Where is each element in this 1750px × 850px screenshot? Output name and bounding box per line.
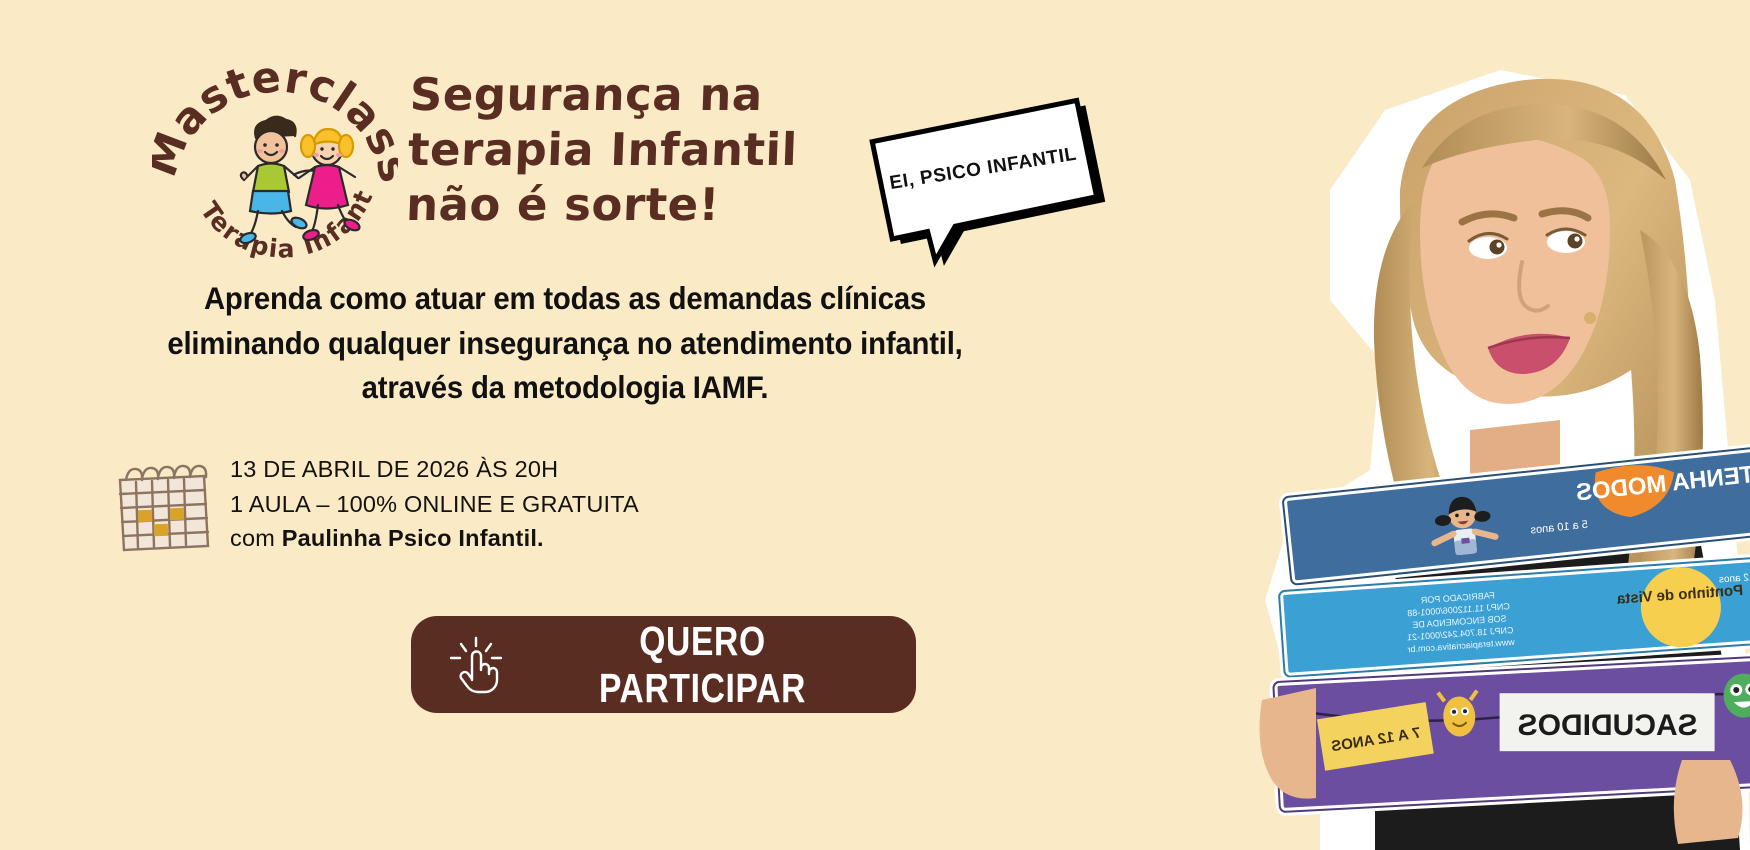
promo-banner: Masterclass Terapia Infantil (0, 0, 1750, 850)
subheadline: Aprenda como atuar em todas as demandas … (95, 276, 1034, 410)
presenter-photo: TENHA MODOS 5 a 10 anos (1170, 0, 1750, 850)
masterclass-logo: Masterclass Terapia Infantil (152, 42, 398, 274)
headline-line-1: Segurança na (409, 68, 931, 123)
hand-right (1674, 760, 1743, 844)
click-hand-icon (445, 634, 507, 696)
cta-label: QUERO PARTICIPAR (542, 618, 863, 712)
event-info-block: 13 DE ABRIL DE 2026 ÀS 20H 1 AULA – 100%… (108, 452, 639, 556)
event-date: 13 DE ABRIL DE 2026 ÀS 20H (230, 452, 639, 487)
earring (1584, 312, 1596, 324)
box3-title: SACUDIDOS (1518, 709, 1698, 742)
calendar-icon (108, 454, 216, 554)
event-host: com Paulinha Psico Infantil. (230, 521, 639, 556)
boy-illustration (239, 117, 308, 245)
subheadline-line-3: através da metodologia IAMF. (95, 365, 1034, 410)
subheadline-line-2: eliminando qualquer insegurança no atend… (95, 321, 1034, 366)
event-format: 1 AULA – 100% ONLINE E GRATUITA (230, 487, 639, 522)
subheadline-line-1: Aprenda como atuar em todas as demandas … (95, 276, 1034, 321)
headline: Segurança na terapia Infantil não é sort… (405, 68, 931, 233)
event-host-prefix: com (230, 525, 282, 551)
speech-bubble: EI, PSICO INFANTIL (872, 112, 1102, 262)
event-info-lines: 13 DE ABRIL DE 2026 ÀS 20H 1 AULA – 100%… (230, 452, 639, 556)
headline-line-3: não é sorte! (405, 178, 927, 233)
event-host-name: Paulinha Psico Infantil. (282, 525, 544, 551)
quero-participar-button[interactable]: QUERO PARTICIPAR (411, 616, 916, 713)
headline-line-2: terapia Infantil (407, 123, 929, 178)
